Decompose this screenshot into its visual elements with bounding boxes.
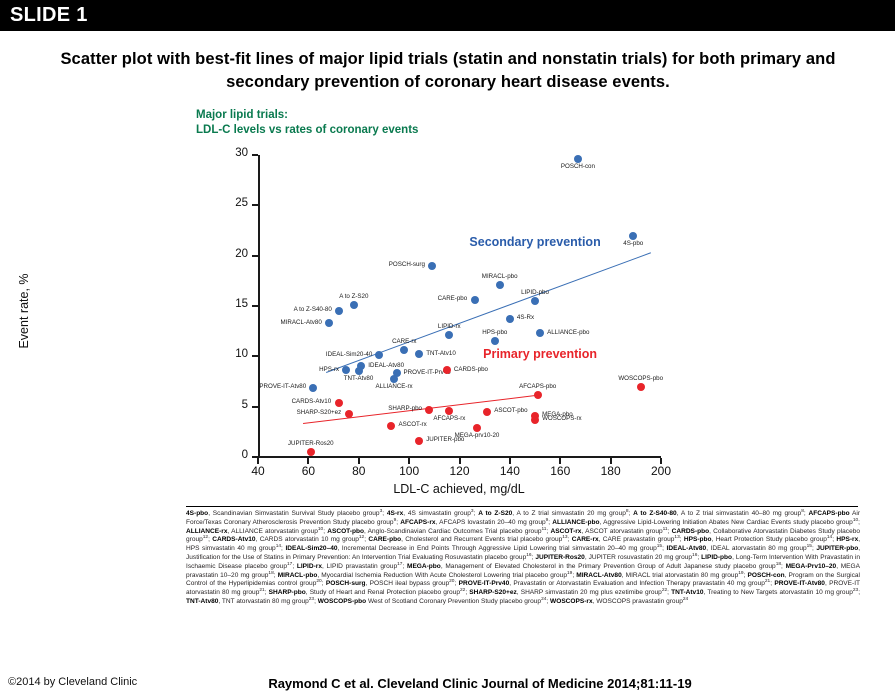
data-point-label: LIPID-rx: [438, 324, 461, 330]
data-point: [350, 301, 358, 309]
x-axis-tick-label: 100: [389, 464, 429, 478]
data-point: [307, 448, 315, 456]
data-point-label: IDEAL-Sim20-40: [326, 352, 372, 358]
series-annotation: Primary prevention: [483, 347, 597, 361]
footnote-divider: [186, 506, 858, 507]
data-point-label: JUPITER-Ros20: [288, 441, 334, 447]
data-point-label: PROVE-IT-Atv80: [259, 384, 306, 390]
data-point: [491, 337, 499, 345]
x-axis-tick-label: 60: [288, 464, 328, 478]
y-axis-tick-label: 20: [214, 248, 248, 260]
y-axis-tick: [252, 204, 258, 206]
data-point-label: HPS-rx: [319, 367, 339, 373]
x-axis-tick-label: 180: [591, 464, 631, 478]
data-point: [342, 366, 350, 374]
x-axis-tick-label: 80: [339, 464, 379, 478]
x-axis-tick-label: 120: [440, 464, 480, 478]
copyright-notice: ©2014 by Cleveland Clinic: [8, 676, 137, 688]
footnote-abbreviations: 4S-pbo, Scandinavian Simvastatin Surviva…: [186, 510, 860, 607]
data-point: [574, 155, 582, 163]
data-point-label: HPS-pbo: [482, 330, 507, 336]
data-point-label: AFCAPS-rx: [433, 416, 465, 422]
data-point-label: A to Z-S40-80: [294, 307, 332, 313]
x-axis-tick-label: 140: [490, 464, 530, 478]
data-point-label: AFCAPS-pbo: [519, 384, 556, 390]
data-point-label: 4S-pbo: [623, 241, 643, 247]
series-annotation: Secondary prevention: [469, 235, 600, 249]
slide-header-bar: SLIDE 1: [0, 0, 895, 31]
data-point: [309, 384, 317, 392]
y-axis-tick: [252, 406, 258, 408]
data-point-label: MIRACL-Atv80: [281, 320, 322, 326]
slide-page: SLIDE 1 Scatter plot with best-fit lines…: [0, 0, 895, 700]
data-point: [375, 351, 383, 359]
slide-title: Scatter plot with best-fit lines of majo…: [48, 48, 848, 94]
data-point: [473, 424, 481, 432]
y-axis-tick-label: 15: [214, 298, 248, 310]
data-point-label: WOSCOPS-pbo: [618, 376, 663, 382]
data-point: [531, 416, 539, 424]
citation-line: Raymond C et al. Cleveland Clinic Journa…: [200, 676, 760, 691]
data-point-label: SHARP-S20+ez: [297, 410, 342, 416]
slide-number-label: SLIDE 1: [10, 4, 88, 27]
data-point: [506, 315, 514, 323]
data-point: [637, 383, 645, 391]
data-point-label: A to Z-S20: [339, 294, 368, 300]
data-point: [355, 367, 363, 375]
data-point: [483, 408, 491, 416]
data-point-label: ALLIANCE-rx: [376, 384, 413, 390]
y-axis-tick-label: 25: [214, 197, 248, 209]
data-point: [425, 406, 433, 414]
scatter-plot: Event rate, % LDL-C achieved, mg/dL 0510…: [0, 104, 895, 504]
x-axis-tick-label: 200: [641, 464, 681, 478]
data-point: [390, 375, 398, 383]
data-point-label: IDEAL-Atv80: [368, 363, 404, 369]
y-axis-tick-label: 10: [214, 348, 248, 360]
y-axis-tick: [252, 154, 258, 156]
data-point-label: CARDS-pbo: [454, 367, 488, 373]
y-axis-tick-label: 0: [214, 449, 248, 461]
data-point-label: MIRACL-pbo: [482, 274, 518, 280]
data-point: [345, 410, 353, 418]
data-point: [387, 422, 395, 430]
data-point-label: LIPID-pbo: [521, 290, 549, 296]
data-point: [415, 350, 423, 358]
y-axis-tick-label: 5: [214, 399, 248, 411]
y-axis-tick: [252, 305, 258, 307]
data-point: [428, 262, 436, 270]
data-point-label: SHARP-pbo: [388, 406, 422, 412]
data-point: [445, 331, 453, 339]
data-point-label: CARE-pbo: [438, 296, 468, 302]
y-axis-tick-label: 30: [214, 147, 248, 159]
y-axis-line: [258, 155, 260, 457]
x-axis-title: LDL-C achieved, mg/dL: [359, 482, 559, 496]
data-point-label: ASCOT-rx: [398, 422, 426, 428]
data-point: [629, 232, 637, 240]
data-point-label: ASCOT-pbo: [494, 408, 527, 414]
data-point-label: ALLIANCE-pbo: [547, 330, 589, 336]
x-axis-tick-label: 160: [540, 464, 580, 478]
data-point: [335, 399, 343, 407]
data-point-label: WOSCOPS-rx: [542, 416, 582, 422]
data-point: [496, 281, 504, 289]
data-point: [400, 346, 408, 354]
data-point-label: POSCH-surg: [389, 262, 425, 268]
y-axis-tick: [252, 255, 258, 257]
figure: Major lipid trials: LDL-C levels vs rate…: [0, 104, 895, 504]
data-point-label: JUPITER-pbo: [426, 437, 464, 443]
data-point: [536, 329, 544, 337]
data-point-label: CARE-rx: [392, 339, 416, 345]
y-axis-tick: [252, 355, 258, 357]
data-point-label: 4S-Rx: [517, 315, 534, 321]
data-point: [335, 307, 343, 315]
data-point: [445, 407, 453, 415]
data-point: [325, 319, 333, 327]
data-point: [415, 437, 423, 445]
data-point: [534, 391, 542, 399]
data-point-label: TNT-Atv80: [344, 376, 374, 382]
y-axis-title: Event rate, %: [17, 251, 31, 371]
data-point-label: TNT-Atv10: [426, 351, 456, 357]
data-point: [471, 296, 479, 304]
data-point-label: CARDS-Atv10: [292, 399, 332, 405]
data-point: [531, 297, 539, 305]
data-point-label: POSCH-con: [561, 164, 595, 170]
x-axis-tick-label: 40: [238, 464, 278, 478]
